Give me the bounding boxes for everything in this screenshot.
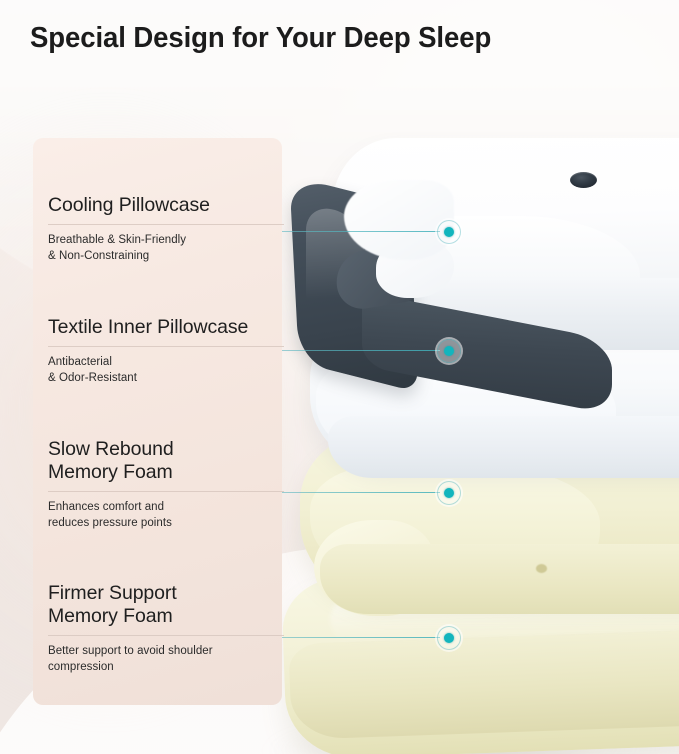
feature-divider xyxy=(48,346,284,347)
page-title: Special Design for Your Deep Sleep xyxy=(30,22,491,55)
feature-title: Firmer Support Memory Foam xyxy=(48,582,284,628)
slow-rebound-foam-pinhole xyxy=(536,564,547,573)
callout-dot-icon-4[interactable] xyxy=(437,626,461,650)
feature-divider xyxy=(48,635,284,636)
feature-divider xyxy=(48,491,284,492)
feature-description: Enhances comfort and reduces pressure po… xyxy=(48,500,284,531)
air-vent-icon xyxy=(570,172,597,188)
feature-item-cooling-pillowcase[interactable]: Cooling Pillowcase Breathable & Skin-Fri… xyxy=(48,194,284,264)
feature-divider xyxy=(48,224,284,225)
feature-title: Cooling Pillowcase xyxy=(48,194,284,217)
feature-description: Breathable & Skin-Friendly & Non-Constra… xyxy=(48,233,284,264)
feature-title: Textile Inner Pillowcase xyxy=(48,316,284,339)
callout-dot-icon-3[interactable] xyxy=(437,481,461,505)
firmer-support-foam-front-face xyxy=(288,628,679,740)
layered-pillow-illustration xyxy=(300,120,679,740)
callout-dot-icon-1[interactable] xyxy=(437,220,461,244)
infographic-canvas: Special Design for Your Deep Sleep Cooli… xyxy=(0,0,679,754)
feature-description: Antibacterial & Odor-Resistant xyxy=(48,355,284,386)
slow-rebound-foam-front-face xyxy=(320,544,679,614)
textile-inner-pillowcase-front-face xyxy=(328,416,679,478)
feature-description: Better support to avoid shoulder compres… xyxy=(48,644,284,675)
feature-title: Slow Rebound Memory Foam xyxy=(48,438,284,484)
feature-item-firmer-support-memory-foam[interactable]: Firmer Support Memory Foam Better suppor… xyxy=(48,582,284,675)
callout-dot-icon-2[interactable] xyxy=(437,339,461,363)
feature-item-textile-inner-pillowcase[interactable]: Textile Inner Pillowcase Antibacterial &… xyxy=(48,316,284,386)
feature-item-slow-rebound-memory-foam[interactable]: Slow Rebound Memory Foam Enhances comfor… xyxy=(48,438,284,531)
